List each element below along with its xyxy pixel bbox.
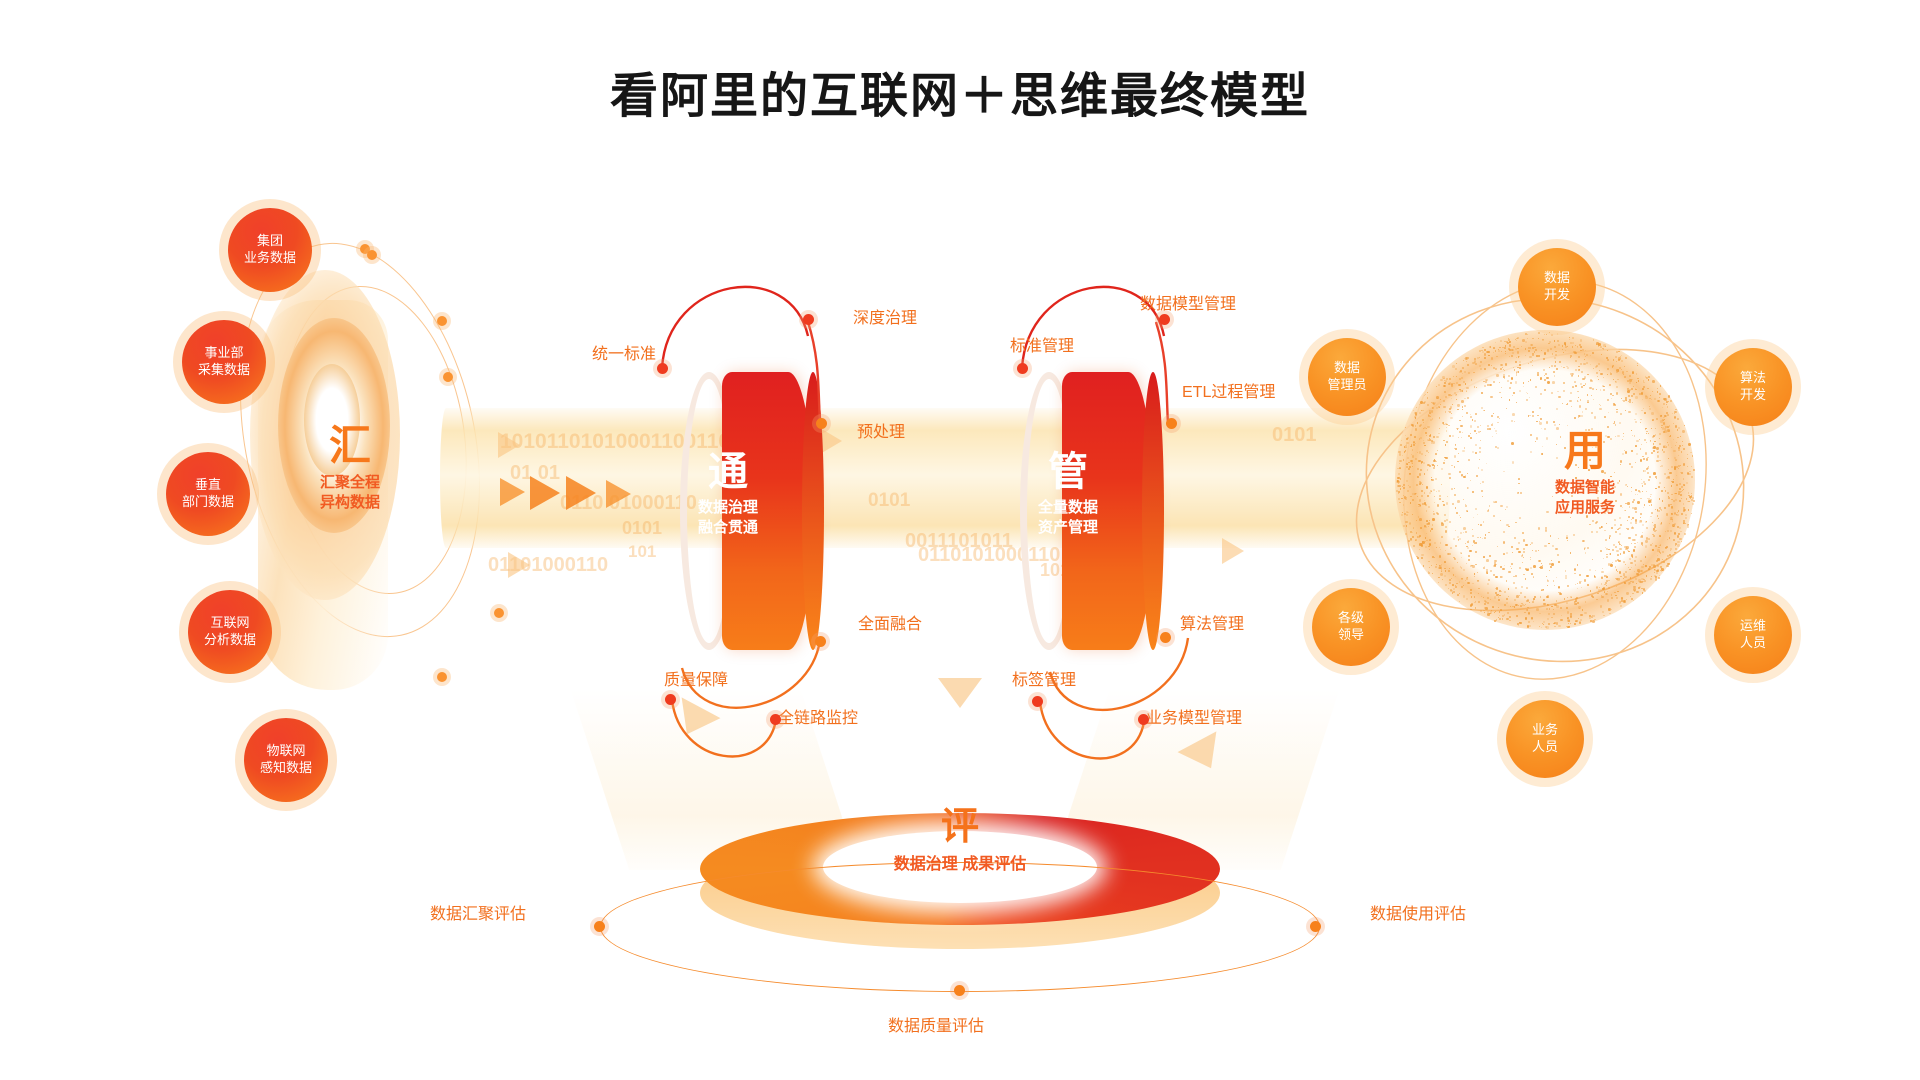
connect-label-0: 统一标准 [592,340,656,364]
connect-node-1[interactable] [803,314,814,325]
binary-text-7: 0101 [868,490,910,512]
user-label-0-line2: 开发 [1544,287,1570,304]
connect-label-3: 全面融合 [858,610,922,634]
collect-stage-label: 汇 汇聚全程 异构数据 [290,425,410,514]
manage-label-0: 标准管理 [1010,332,1074,356]
source-bubble-4[interactable]: 物联网 感知数据 [244,718,328,802]
connect-label-2: 预处理 [857,418,905,442]
source-label-3-line1: 互联网 [210,615,249,632]
source-label-3-line2: 分析数据 [204,632,256,649]
flow-arrow-4 [606,480,631,508]
manage-label-3: 算法管理 [1180,610,1244,634]
connect-subtitle-1: 数据治理 [648,498,808,518]
user-label-5-line2: 人员 [1532,739,1558,756]
source-label-2-line2: 部门数据 [182,494,234,511]
manage-node-1[interactable] [1159,314,1170,325]
flow-arrow-7 [1222,538,1244,564]
source-bubble-2[interactable]: 垂直 部门数据 [166,452,250,536]
connect-node-5[interactable] [770,714,781,725]
user-bubble-2[interactable]: 数据 管理员 [1308,338,1386,416]
user-bubble-4[interactable]: 各级 领导 [1312,588,1390,666]
source-label-1-line1: 事业部 [204,345,243,362]
manage-stage-label: 管 全量数据 资产管理 [988,452,1148,539]
manage-arc-down [1130,320,1210,430]
user-bubble-1[interactable]: 算法 开发 [1714,348,1792,426]
connect-node-4[interactable] [665,694,676,705]
evaluate-label-2: 数据质量评估 [888,1012,984,1036]
manage-label-5: 业务模型管理 [1146,704,1242,728]
manage-node-2[interactable] [1166,418,1177,429]
connect-char: 通 [648,452,808,492]
collect-char: 汇 [290,425,410,467]
manage-subtitle-1: 全量数据 [988,498,1148,518]
evaluate-node-left[interactable] [594,921,605,932]
connect-label-5: 全链路监控 [778,704,858,728]
manage-node-0[interactable] [1017,363,1028,374]
user-bubble-3[interactable]: 运维 人员 [1714,596,1792,674]
evaluate-stage-label: 评 数据治理 成果评估 [0,808,1920,874]
orbit-dot-5 [437,672,447,682]
binary-text-10: 0101 [1272,424,1317,447]
collect-subtitle-2: 异构数据 [290,493,410,513]
binary-text-5: 101 [628,542,656,562]
source-label-4-line1: 物联网 [266,743,305,760]
connect-label-1: 深度治理 [853,304,917,328]
connect-subtitle-2: 融合贯通 [648,518,808,538]
source-bubble-1[interactable]: 事业部 采集数据 [182,320,266,404]
source-label-1-line2: 采集数据 [198,362,250,379]
connect-label-4: 质量保障 [664,666,728,690]
source-label-0-line2: 业务数据 [244,250,296,267]
evaluate-char: 评 [0,808,1920,846]
user-label-5-line1: 业务 [1532,722,1558,739]
evaluate-label-1: 数据使用评估 [1370,900,1466,924]
page-title: 看阿里的互联网＋思维最终模型 [0,56,1920,126]
user-label-4-line2: 领导 [1338,627,1364,644]
use-stage-label: 用 数据智能 应用服务 [1500,430,1670,519]
evaluate-label-0: 数据汇聚评估 [430,900,526,924]
user-bubble-0[interactable]: 数据 开发 [1518,248,1596,326]
manage-label-4: 标签管理 [1012,666,1076,690]
manage-node-5[interactable] [1138,714,1149,725]
source-bubble-3[interactable]: 互联网 分析数据 [188,590,272,674]
evaluate-node-right[interactable] [1310,921,1321,932]
use-char: 用 [1500,430,1670,472]
collect-subtitle-1: 汇聚全程 [290,473,410,493]
down-arrow-center [938,678,982,708]
use-subtitle-1: 数据智能 [1500,478,1670,498]
source-label-0-line1: 集团 [257,233,283,250]
source-label-4-line2: 感知数据 [260,760,312,777]
connect-node-0[interactable] [657,363,668,374]
orbit-dot-4 [494,608,504,618]
manage-label-2: ETL过程管理 [1182,378,1275,402]
manage-node-3[interactable] [1160,632,1171,643]
user-bubble-5[interactable]: 业务 人员 [1506,700,1584,778]
user-label-4-line1: 各级 [1338,610,1364,627]
flow-arrow-5 [508,552,530,578]
manage-node-4[interactable] [1032,696,1043,707]
user-label-1-line1: 算法 [1740,370,1766,387]
use-subtitle-2: 应用服务 [1500,498,1670,518]
evaluate-node-bottom[interactable] [954,985,965,996]
evaluate-subtitle: 数据治理 成果评估 [0,850,1920,874]
connect-stage-label: 通 数据治理 融合贯通 [648,452,808,539]
connect-node-2[interactable] [816,418,827,429]
flow-arrow-3 [566,476,596,510]
user-label-1-line2: 开发 [1740,387,1766,404]
manage-char: 管 [988,452,1148,492]
user-label-0-line1: 数据 [1544,270,1570,287]
source-label-2-line1: 垂直 [195,477,221,494]
user-label-3-line2: 人员 [1740,635,1766,652]
user-label-2-line1: 数据 [1334,360,1360,377]
manage-subtitle-2: 资产管理 [988,518,1148,538]
connect-arc-down [780,320,860,430]
diagram-canvas: 看阿里的互联网＋思维最终模型 汇 汇聚全程 异构数据 集团 业务数据 事业部 采… [0,0,1920,1080]
manage-label-1: 数据模型管理 [1140,290,1236,314]
connect-node-3[interactable] [815,636,826,647]
evaluate-orbit-ring [600,862,1320,992]
user-label-3-line1: 运维 [1740,618,1766,635]
source-bubble-0[interactable]: 集团 业务数据 [228,208,312,292]
flow-arrow-2 [530,476,560,510]
user-label-2-line2: 管理员 [1327,377,1366,394]
orbit-dot-6 [367,250,377,260]
